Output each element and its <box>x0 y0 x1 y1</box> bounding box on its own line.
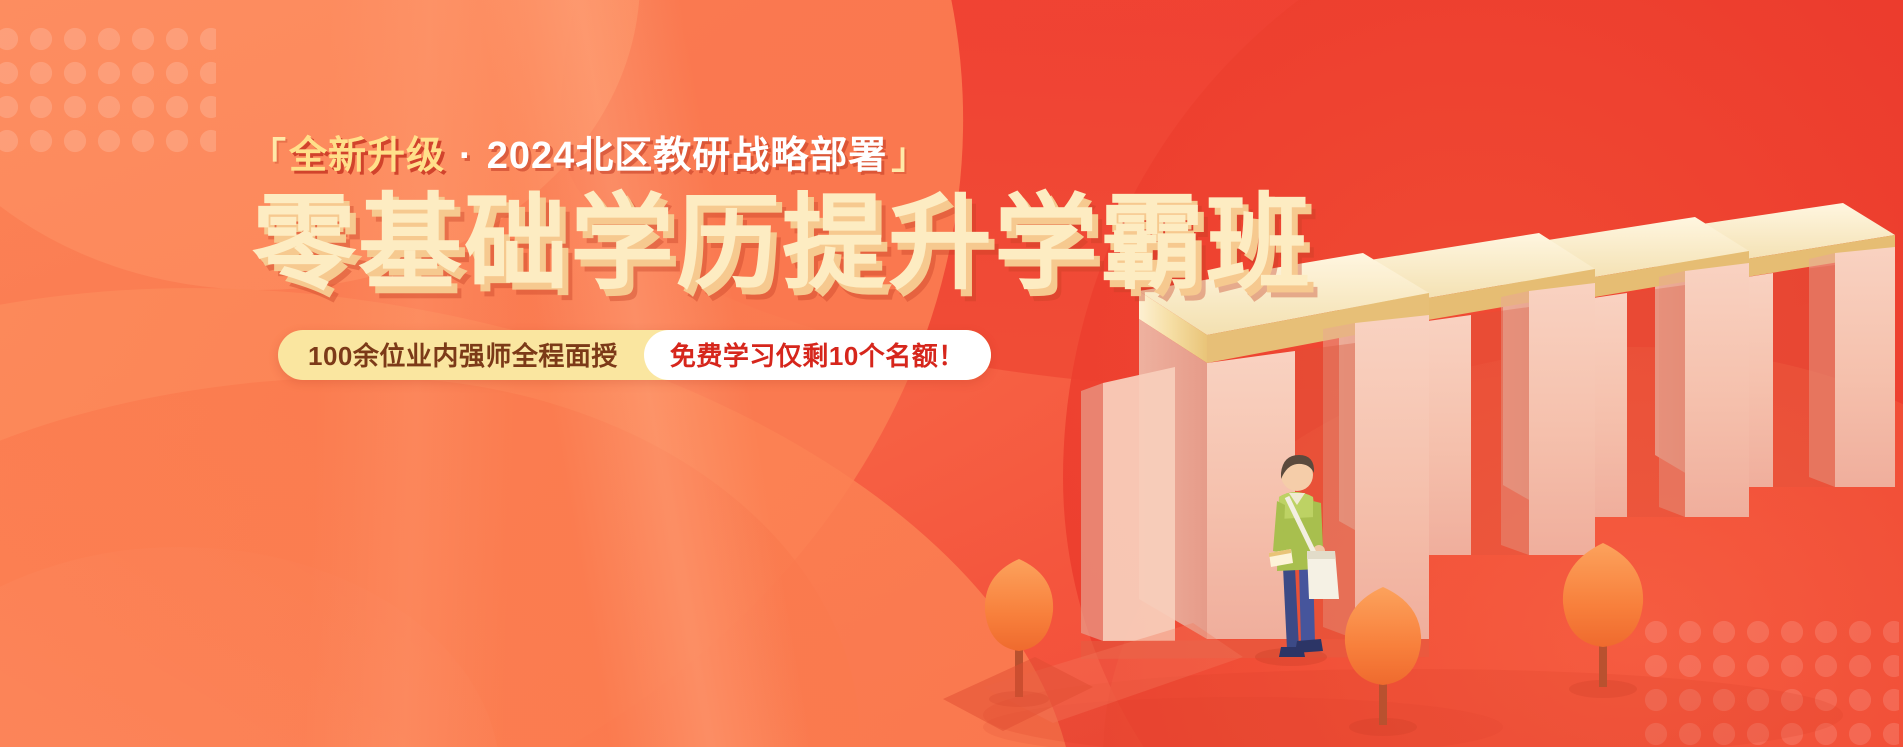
page-title: 零基础学历提升学霸班 <box>252 192 1010 296</box>
offer-pill-seats-badge: 免费学习仅剩10个名额！ <box>644 330 991 380</box>
offer-pill: 100余位业内强师全程面授 免费学习仅剩10个名额！ <box>278 330 991 380</box>
subtitle-gold-text: 全新升级 <box>289 136 445 178</box>
offer-pill-teachers-label: 100余位业内强师全程面授 <box>278 330 644 380</box>
promo-banner: 「 全新升级 · 2024北区教研战略部署 」 零基础学历提升学霸班 100余位… <box>0 0 1903 747</box>
subtitle: 「 全新升级 · 2024北区教研战略部署 」 <box>250 136 1010 178</box>
subtitle-bracket-left: 「 <box>250 136 287 176</box>
copy-block: 「 全新升级 · 2024北区教研战略部署 」 零基础学历提升学霸班 100余位… <box>250 136 1010 380</box>
subtitle-white-text: 2024北区教研战略部署 <box>487 136 888 178</box>
subtitle-separator-icon: · <box>445 136 487 178</box>
subtitle-bracket-right: 」 <box>891 136 928 176</box>
